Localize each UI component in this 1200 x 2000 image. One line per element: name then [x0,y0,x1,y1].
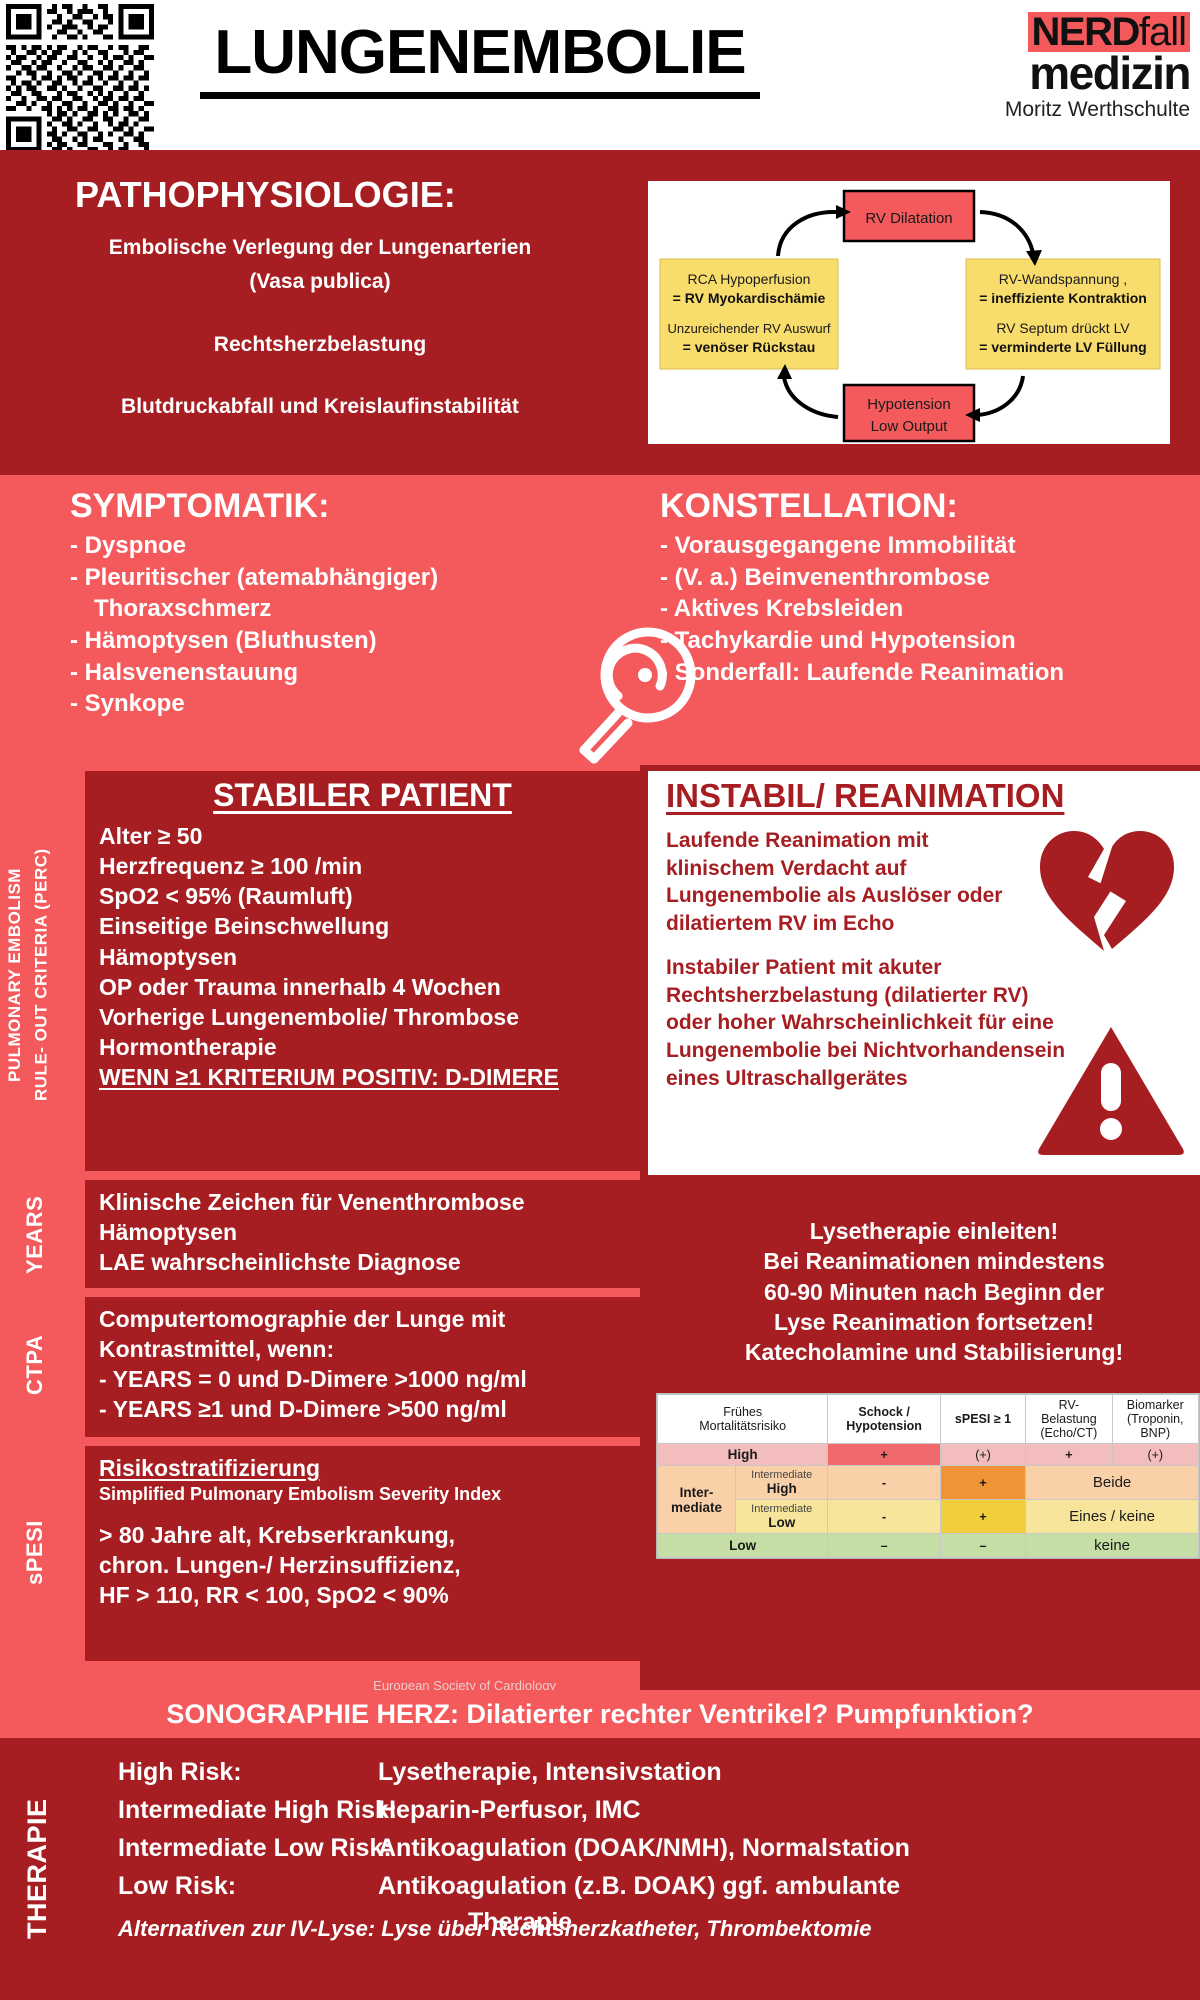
therapie-row: Intermediate Low Risk:Antikoagulation (D… [118,1834,910,1863]
page-title: LUNGENEMBOLIE [200,22,760,99]
symptomatik-title: SYMPTOMATIK: [70,487,630,526]
warning-triangle-icon [1036,1021,1186,1156]
cell-low-spesi: – [940,1534,1025,1558]
list-item: - Aktives Krebsleiden [660,593,1190,625]
table-row: IntermediateLow - + Eines / keine [658,1500,1199,1534]
stable-patient-title: STABILER PATIENT [85,771,640,814]
sonography-text: SONOGRAPHIE HERZ: Dilatierter rechter Ve… [0,1690,1200,1738]
criterion: Hämoptysen [85,942,640,972]
svg-text:RV Dilatation: RV Dilatation [865,210,952,227]
table-row: Low – – keine [658,1534,1199,1558]
criterion: SpO2 < 95% (Raumluft) [85,881,640,911]
list-item: - Halsvenenstauung [70,657,630,689]
instabil-title: INSTABIL/ REANIMATION [648,771,1200,815]
criterion: Vorherige Lungenembolie/ Thrombose [85,1002,640,1032]
lyse-line-1: Lysetherapie einleiten! [678,1202,1190,1246]
symptomatik-block: SYMPTOMATIK: - Dyspnoe - Pleuritischer (… [70,487,630,720]
th-spesi: sPESI ≥ 1 [940,1395,1025,1444]
magnifier-icon [570,618,715,766]
criterion: Alter ≥ 50 [85,814,640,851]
therapie-row: Low Risk:Antikoagulation (z.B. DOAK) ggf… [118,1872,900,1901]
unstable-column: INSTABIL/ REANIMATION Laufende Reanimati… [640,765,1200,1690]
esc-risk-table: FrühesMortalitätsrisiko Schock /Hypotens… [656,1393,1200,1559]
logo-top-row: NERDfall [1028,12,1190,52]
ctpa-box: Computertomographie der Lunge mit Kontra… [85,1297,640,1437]
svg-text:= venöser Rückstau: = venöser Rückstau [683,339,816,355]
years-box: Klinische Zeichen für Venenthrombose Häm… [85,1180,640,1288]
ctpa-heading-underlined: Computertomographie [99,1306,347,1332]
cell-high-spesi: (+) [940,1444,1025,1466]
years-side-label: YEARS [22,1180,56,1290]
stable-patient-box: STABILER PATIENT Alter ≥ 50 Herzfrequenz… [85,771,640,1171]
ctpa-line-4: - YEARS ≥1 und D-Dimere >500 ng/ml [85,1394,640,1424]
svg-text:RCA Hypoperfusion: RCA Hypoperfusion [688,271,811,287]
svg-text:RV-Wandspannung ,: RV-Wandspannung , [999,271,1127,287]
cell-high-rv: + [1026,1444,1112,1466]
spesi-title: Risikostratifizierung [85,1446,640,1483]
list-item: - (V. a.) Beinvenenthrombose [660,562,1190,594]
svg-text:Low Output: Low Output [871,418,949,435]
table-header-row: FrühesMortalitätsrisiko Schock /Hypotens… [658,1395,1199,1444]
th-risk: FrühesMortalitätsrisiko [658,1395,828,1444]
cell-il-spesi: + [940,1500,1025,1534]
qr-code-icon[interactable] [6,4,154,152]
patho-line-2: (Vasa publica) [20,268,620,296]
konstellation-block: KONSTELLATION: - Vorausgegangene Immobil… [660,487,1190,688]
th-shock: Schock /Hypotension [828,1395,941,1444]
pathophysiology-section: PATHOPHYSIOLOGIE: Embolische Verlegung d… [0,150,1200,475]
pathophysiology-text: Embolische Verlegung der Lungenarterien … [20,234,620,427]
list-item: - Sonderfall: Laufende Reanimation [660,657,1190,689]
therapie-value: Antikoagulation (DOAK/NMH), Normalstatio… [378,1834,910,1862]
therapie-label: Intermediate High Risk: [118,1796,378,1825]
cell-low-merged: keine [1026,1534,1199,1558]
ctpa-heading-rest: der Lunge mit [347,1306,505,1332]
therapie-side-label: THERAPIE [22,1756,62,1981]
row-label-high: High [658,1444,828,1466]
cell-ih-spesi: + [940,1466,1025,1500]
cell-high-bio: (+) [1112,1444,1198,1466]
therapie-value: Lysetherapie, Intensivstation [378,1758,722,1786]
svg-text:Hypotension: Hypotension [867,396,950,413]
symptomatik-list: - Dyspnoe - Pleuritischer (atemabhängige… [70,530,630,720]
broken-heart-icon [1032,823,1182,953]
instabil-paragraph-2: Instabiler Patient mit akuter Rechtsherz… [648,938,1068,1093]
list-item: - Hämoptysen (Bluthusten) [70,625,630,657]
cell-il-shock: - [828,1500,941,1534]
logo-author-text: Moritz Werthschulte [950,98,1190,121]
ctpa-heading: Computertomographie der Lunge mit [85,1297,640,1334]
criterion: Hormontherapie [85,1032,640,1062]
spesi-line-1: > 80 Jahre alt, Krebserkrankung, [85,1520,640,1550]
svg-text:RV Septum drückt LV: RV Septum drückt LV [996,320,1130,336]
svg-text:= RV Myokardischämie: = RV Myokardischämie [673,290,826,306]
therapie-row: Intermediate High Risk:Heparin-Perfusor,… [118,1796,641,1825]
row-label-intermediate: Inter-mediate [658,1466,736,1534]
lyse-line-2: Bei Reanimationen mindestens [678,1246,1190,1276]
lyse-instruction-box: Lysetherapie einleiten! Bei Reanimatione… [678,1202,1190,1370]
spesi-box: Risikostratifizierung Simplified Pulmona… [85,1446,640,1661]
row-sub-intermediate-low: IntermediateLow [736,1500,828,1534]
spesi-subtitle: Simplified Pulmonary Embolism Severity I… [85,1483,640,1507]
cell-low-shock: – [828,1534,941,1558]
therapie-label: Low Risk: [118,1872,378,1901]
therapie-alternatives: Alternativen zur IV-Lyse: Lyse über Rech… [118,1916,872,1942]
spesi-side-label: sPESI [22,1445,56,1660]
svg-text:Unzureichender RV Auswurf: Unzureichender RV Auswurf [667,321,830,336]
konstellation-title: KONSTELLATION: [660,487,1190,526]
ctpa-line-2: Kontrastmittel, wenn: [85,1334,640,1364]
poster-root: LUNGENEMBOLIE NERDfall medizin Moritz We… [0,0,1200,2000]
criterion: Herzfrequenz ≥ 100 /min [85,851,640,881]
instabil-box: INSTABIL/ REANIMATION Laufende Reanimati… [648,771,1200,1175]
cell-il-merged: Eines / keine [1026,1500,1199,1534]
lyse-line-4: Lyse Reanimation fortsetzen! [678,1307,1190,1337]
ctpa-side-label: CTPA [22,1295,56,1435]
criterion: Einseitige Beinschwellung [85,911,640,941]
konstellation-list: - Vorausgegangene Immobilität - (V. a.) … [660,530,1190,688]
th-rv: RV-Belastung(Echo/CT) [1026,1395,1112,1444]
list-item: Thoraxschmerz [70,593,630,625]
spesi-line-3: HF > 110, RR < 100, SpO2 < 90% [85,1580,640,1610]
svg-text:= verminderte LV Füllung: = verminderte LV Füllung [979,339,1146,355]
therapie-section: THERAPIE High Risk:Lysetherapie, Intensi… [0,1738,1200,2000]
list-item: - Tachykardie und Hypotension [660,625,1190,657]
patho-line-3: Rechtsherzbelastung [20,331,620,359]
criterion: OP oder Trauma innerhalb 4 Wochen [85,972,640,1002]
ctpa-line-3: - YEARS = 0 und D-Dimere >1000 ng/ml [85,1364,640,1394]
table-row: High + (+) + (+) [658,1444,1199,1466]
therapie-value: Heparin-Perfusor, IMC [378,1796,641,1824]
therapie-label: Intermediate Low Risk: [118,1834,378,1863]
list-item: - Dyspnoe [70,530,630,562]
row-label-low: Low [658,1534,828,1558]
therapie-value: Antikoagulation (z.B. DOAK) ggf. ambulan… [378,1872,900,1900]
spesi-line-2: chron. Lungen-/ Herzinsuffizienz, [85,1550,640,1580]
years-item: Klinische Zeichen für Venenthrombose [85,1180,640,1217]
logo-medizin-text: medizin [950,50,1190,96]
patho-line-1: Embolische Verlegung der Lungenarterien [20,234,620,262]
lyse-line-5: Katecholamine und Stabilisierung! [678,1337,1190,1367]
perc-footer: WENN ≥1 KRITERIUM POSITIV: D-DIMERE [85,1062,640,1092]
brand-logo: NERDfall medizin Moritz Werthschulte [950,12,1190,121]
therapie-label: High Risk: [118,1758,378,1787]
row-sub-intermediate-high: IntermediateHigh [736,1466,828,1500]
list-item: - Vorausgegangene Immobilität [660,530,1190,562]
diagnostic-algorithm-column: PULMONARY EMBOLISMRULE- OUT CRITERIA (PE… [0,765,640,1690]
perc-side-label: PULMONARY EMBOLISMRULE- OUT CRITERIA (PE… [2,775,62,1175]
lyse-line-3: 60-90 Minuten nach Beginn der [678,1277,1190,1307]
cell-ih-shock: - [828,1466,941,1500]
cell-ih-merged: Beide [1026,1466,1199,1500]
svg-text:= ineffiziente Kontraktion: = ineffiziente Kontraktion [979,290,1147,306]
years-item: LAE wahrscheinlichste Diagnose [85,1247,640,1277]
sonography-bar: SONOGRAPHIE HERZ: Dilatierter rechter Ve… [0,1690,1200,1738]
cell-high-shock: + [828,1444,941,1466]
instabil-paragraph-1: Laufende Reanimation mit klinischem Verd… [648,815,1028,938]
patho-line-4: Blutdruckabfall und Kreislaufinstabilitä… [20,393,620,421]
table-row: Inter-mediate IntermediateHigh - + Beide [658,1466,1199,1500]
list-item: - Synkope [70,688,630,720]
header: LUNGENEMBOLIE NERDfall medizin Moritz We… [0,0,1200,150]
list-item: - Pleuritischer (atemabhängiger) [70,562,630,594]
pathophysiology-title: PATHOPHYSIOLOGIE: [75,174,456,216]
years-item: Hämoptysen [85,1217,640,1247]
rv-failure-cycle-diagram: RV Dilatation RV-Wandspannung , = ineffi… [648,181,1170,444]
th-biomarker: Biomarker(Troponin,BNP) [1112,1395,1198,1444]
therapie-row: High Risk:Lysetherapie, Intensivstation [118,1758,722,1787]
